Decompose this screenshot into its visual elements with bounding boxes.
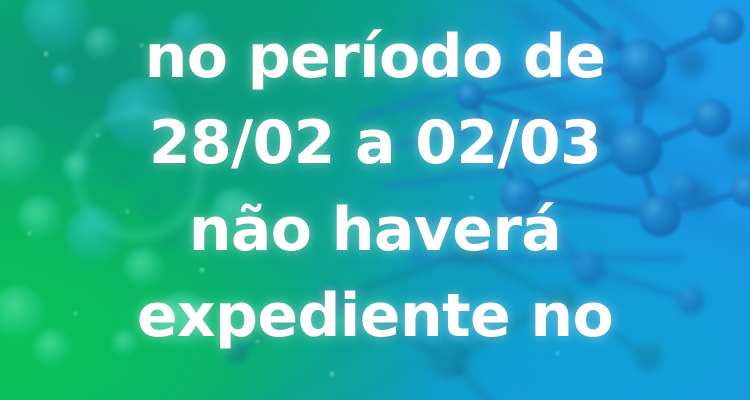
announcement-banner: no período de 28/02 a 02/03 não haverá e… — [0, 0, 750, 400]
headline-text-block: no período de 28/02 a 02/03 não haverá e… — [0, 0, 750, 400]
headline-line-1: no período de — [145, 14, 606, 100]
headline-line-3: não haverá — [189, 187, 561, 273]
headline-line-4: expediente no — [137, 273, 613, 359]
headline-line-2: 28/02 a 02/03 — [149, 100, 601, 186]
